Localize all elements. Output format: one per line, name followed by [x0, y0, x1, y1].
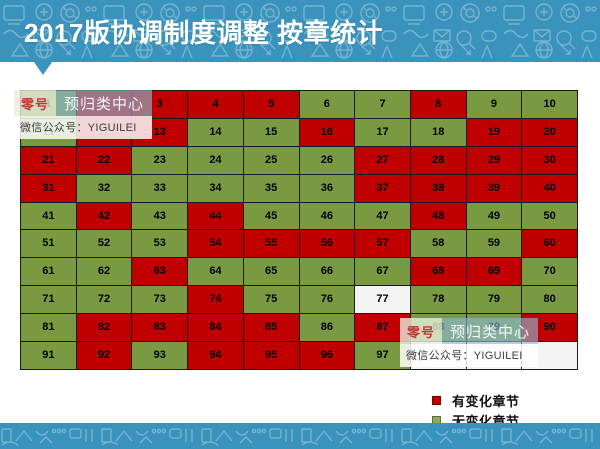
- chapter-cell-1: 1: [21, 91, 76, 118]
- legend-swatch-changed-icon: [432, 396, 441, 405]
- chapter-cell-36: 36: [300, 175, 355, 202]
- chapter-cell-13: 13: [132, 119, 187, 146]
- chapter-cell-86: 86: [300, 314, 355, 341]
- chapter-cell-7: 7: [355, 91, 410, 118]
- chapter-cell-2: 2: [77, 91, 132, 118]
- legend-item-changed: 有变化章节: [432, 390, 520, 410]
- chapter-cell-20: 20: [522, 119, 577, 146]
- chapter-cell-17: 17: [355, 119, 410, 146]
- chapter-cell-58: 58: [411, 230, 466, 257]
- chapter-cell-75: 75: [244, 286, 299, 313]
- chapter-cell-53: 53: [132, 230, 187, 257]
- chapter-cell-46: 46: [300, 203, 355, 230]
- chapter-cell-empty: [411, 342, 466, 369]
- chapter-cell-74: 74: [188, 286, 243, 313]
- chapter-cell-8: 8: [411, 91, 466, 118]
- chapter-cell-49: 49: [467, 203, 522, 230]
- chapter-cell-10: 10: [522, 91, 577, 118]
- chapter-cell-80: 80: [522, 286, 577, 313]
- chapter-cell-76: 76: [300, 286, 355, 313]
- chapter-cell-42: 42: [77, 203, 132, 230]
- chapter-cell-62: 62: [77, 258, 132, 285]
- chapter-cell-97: 97: [355, 342, 410, 369]
- chapter-cell-73: 73: [132, 286, 187, 313]
- chapter-cell-23: 23: [132, 147, 187, 174]
- page-title: 2017版协调制度调整 按章统计: [24, 13, 383, 50]
- chapter-cell-71: 71: [21, 286, 76, 313]
- chapter-cell-51: 51: [21, 230, 76, 257]
- slide-footer-band: [0, 423, 600, 449]
- chapter-cell-87: 87: [355, 314, 410, 341]
- chapter-cell-24: 24: [188, 147, 243, 174]
- chapter-cell-19: 19: [467, 119, 522, 146]
- chapter-cell-70: 70: [522, 258, 577, 285]
- chapter-cell-43: 43: [132, 203, 187, 230]
- chapter-cell-48: 48: [411, 203, 466, 230]
- chapter-cell-85: 85: [244, 314, 299, 341]
- header-pointer-triangle: [34, 62, 52, 75]
- chapter-cell-68: 68: [411, 258, 466, 285]
- chapter-cell-63: 63: [132, 258, 187, 285]
- chapter-cell-60: 60: [522, 230, 577, 257]
- chapter-cell-66: 66: [300, 258, 355, 285]
- chapter-cell-9: 9: [467, 91, 522, 118]
- chapter-cell-35: 35: [244, 175, 299, 202]
- chapter-cell-55: 55: [244, 230, 299, 257]
- chapter-cell-69: 69: [467, 258, 522, 285]
- chapter-cell-65: 65: [244, 258, 299, 285]
- chapter-cell-88: 88: [411, 314, 466, 341]
- chapter-cell-25: 25: [244, 147, 299, 174]
- chapter-cell-52: 52: [77, 230, 132, 257]
- chapter-cell-empty: [467, 342, 522, 369]
- chapter-cell-40: 40: [522, 175, 577, 202]
- chapter-cell-27: 27: [355, 147, 410, 174]
- chapter-cell-93: 93: [132, 342, 187, 369]
- chapter-cell-11: 11: [21, 119, 76, 146]
- chapter-cell-59: 59: [467, 230, 522, 257]
- chapter-cell-54: 54: [188, 230, 243, 257]
- chapter-cell-91: 91: [21, 342, 76, 369]
- chapter-cell-22: 22: [77, 147, 132, 174]
- chapter-cell-12: 12: [77, 119, 132, 146]
- footer-line-art-pattern: [0, 423, 600, 449]
- chapter-cell-78: 78: [411, 286, 466, 313]
- chapter-cell-44: 44: [188, 203, 243, 230]
- chapter-cell-6: 6: [300, 91, 355, 118]
- chapter-cell-empty: [522, 342, 577, 369]
- chapter-cell-95: 95: [244, 342, 299, 369]
- chapter-cell-21: 21: [21, 147, 76, 174]
- chapter-cell-47: 47: [355, 203, 410, 230]
- chapter-cell-16: 16: [300, 119, 355, 146]
- chapter-cell-33: 33: [132, 175, 187, 202]
- legend-label-changed: 有变化章节: [452, 391, 520, 410]
- chapter-cell-61: 61: [21, 258, 76, 285]
- chapter-cell-38: 38: [411, 175, 466, 202]
- chapter-cell-3: 3: [132, 91, 187, 118]
- chapter-cell-18: 18: [411, 119, 466, 146]
- chapter-cell-5: 5: [244, 91, 299, 118]
- chapter-cell-84: 84: [188, 314, 243, 341]
- slide-canvas: 2017版协调制度调整 按章统计 12345678910111213141516…: [0, 0, 600, 449]
- chapter-cell-50: 50: [522, 203, 577, 230]
- chapter-cell-41: 41: [21, 203, 76, 230]
- chapter-cell-83: 83: [132, 314, 187, 341]
- chapter-grid-wrapper: 1234567891011121314151617181920212223242…: [20, 90, 578, 370]
- chapter-cell-56: 56: [300, 230, 355, 257]
- chapter-cell-77: 77: [355, 286, 410, 313]
- chapter-cell-79: 79: [467, 286, 522, 313]
- chapter-cell-57: 57: [355, 230, 410, 257]
- chapter-cell-37: 37: [355, 175, 410, 202]
- chapter-cell-90: 90: [522, 314, 577, 341]
- chapter-cell-81: 81: [21, 314, 76, 341]
- chapter-cell-14: 14: [188, 119, 243, 146]
- chapter-cell-94: 94: [188, 342, 243, 369]
- chapter-cell-32: 32: [77, 175, 132, 202]
- chapter-cell-96: 96: [300, 342, 355, 369]
- chapter-cell-28: 28: [411, 147, 466, 174]
- chapter-cell-67: 67: [355, 258, 410, 285]
- chapter-cell-30: 30: [522, 147, 577, 174]
- chapter-cell-72: 72: [77, 286, 132, 313]
- chapter-cell-15: 15: [244, 119, 299, 146]
- slide-header-band: 2017版协调制度调整 按章统计: [0, 0, 600, 62]
- chapter-cell-29: 29: [467, 147, 522, 174]
- chapter-cell-45: 45: [244, 203, 299, 230]
- chapter-heatmap-grid: 1234567891011121314151617181920212223242…: [20, 90, 578, 370]
- chapter-cell-4: 4: [188, 91, 243, 118]
- chapter-cell-34: 34: [188, 175, 243, 202]
- chapter-cell-92: 92: [77, 342, 132, 369]
- chapter-cell-39: 39: [467, 175, 522, 202]
- chapter-cell-89: 89: [467, 314, 522, 341]
- chapter-cell-26: 26: [300, 147, 355, 174]
- chapter-cell-31: 31: [21, 175, 76, 202]
- chapter-cell-82: 82: [77, 314, 132, 341]
- chapter-cell-64: 64: [188, 258, 243, 285]
